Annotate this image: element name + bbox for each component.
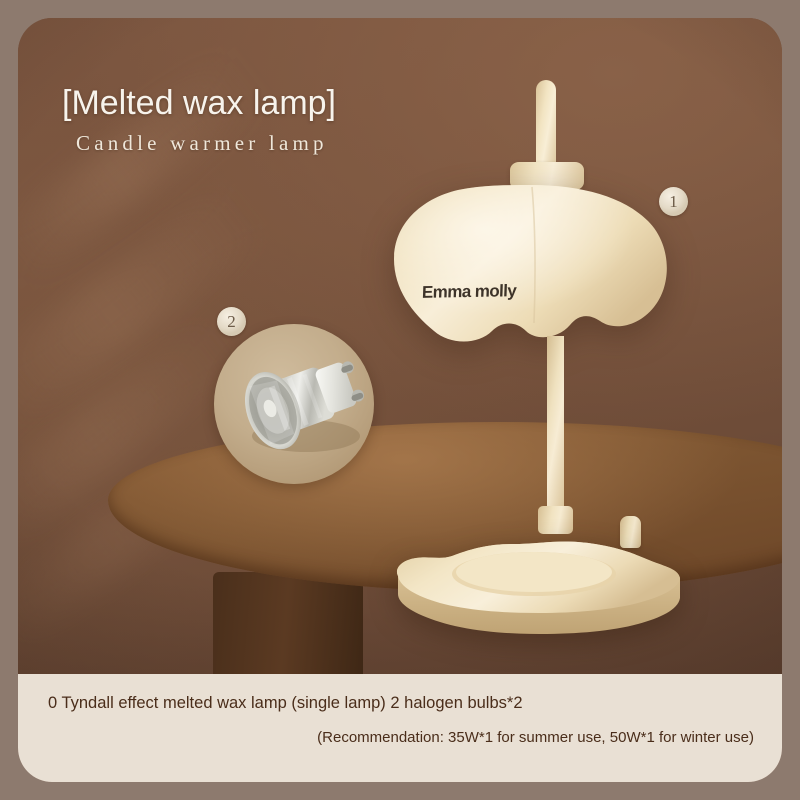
callout-badge-2: 2 <box>217 307 246 336</box>
caption-primary: 0 Tyndall effect melted wax lamp (single… <box>48 694 523 713</box>
caption-band: 0 Tyndall effect melted wax lamp (single… <box>18 674 782 782</box>
product-poster: Emma molly <box>0 0 800 800</box>
lamp-shade <box>386 181 676 353</box>
halogen-bulb-inset <box>214 324 374 484</box>
brand-logo: Emma molly <box>422 281 517 303</box>
lamp-stem <box>547 336 564 518</box>
page-title: [Melted wax lamp] <box>62 84 336 123</box>
poster-panel: Emma molly <box>18 18 782 782</box>
caption-recommendation: (Recommendation: 35W*1 for summer use, 5… <box>317 729 754 746</box>
lamp-base <box>382 524 692 636</box>
page-subtitle: Candle warmer lamp <box>76 131 328 156</box>
lamp-finial <box>536 80 556 172</box>
callout-badge-1: 1 <box>659 187 688 216</box>
